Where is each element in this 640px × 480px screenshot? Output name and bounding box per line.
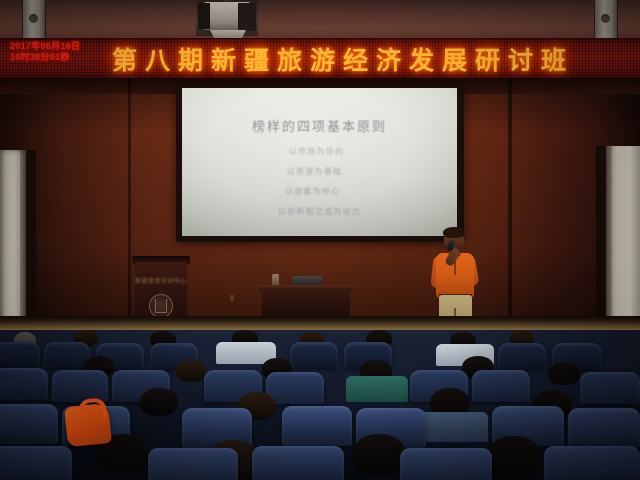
projector-lens bbox=[238, 3, 256, 31]
audience-seat[interactable] bbox=[472, 370, 530, 402]
slide-bullet-list: 以市场为导向 以资源为基础 以游客为中心 以创新和交流为动力 bbox=[182, 146, 457, 226]
audience-seat[interactable] bbox=[544, 446, 640, 480]
audience-shirt bbox=[346, 376, 408, 402]
audience-seat[interactable] bbox=[0, 342, 40, 368]
audience-seat[interactable] bbox=[148, 448, 238, 480]
audience-head bbox=[548, 362, 580, 385]
audience-head bbox=[176, 360, 206, 382]
audience-seat[interactable] bbox=[266, 372, 324, 404]
timestamp-date: 2017年06月16日 bbox=[10, 41, 80, 52]
audience-head bbox=[352, 434, 406, 476]
orange-handbag bbox=[64, 403, 112, 447]
side-wall-right-shadow bbox=[596, 146, 612, 332]
audience-seat[interactable] bbox=[0, 404, 58, 444]
ceiling bbox=[0, 0, 640, 40]
audience-seat[interactable] bbox=[498, 343, 546, 369]
projector-side-left bbox=[198, 3, 210, 29]
audience-seat[interactable] bbox=[400, 448, 492, 480]
ceiling-projector-icon bbox=[196, 0, 258, 36]
institution-emblem-icon bbox=[149, 294, 173, 318]
camera-timestamp-overlay: 2017年06月16日 10时38分01秒 bbox=[10, 41, 80, 63]
slide-bullet: 以游客为中心 bbox=[182, 186, 457, 197]
led-banner: 第八期新疆旅游经济发展研讨班 bbox=[0, 38, 640, 80]
audience-seat[interactable] bbox=[44, 342, 90, 368]
cctv-photo-frame: 第八期新疆旅游经济发展研讨班 2017年06月16日 10时38分01秒 榜样的… bbox=[0, 0, 640, 480]
led-banner-text: 第八期新疆旅游经济发展研讨班 bbox=[108, 41, 578, 77]
projection-screen: 榜样的四项基本原则 以市场为导向 以资源为基础 以游客为中心 以创新和交流为动力 bbox=[182, 88, 457, 236]
audience-seat[interactable] bbox=[52, 370, 108, 402]
slide-bullet: 以市场为导向 bbox=[182, 146, 457, 157]
audience-seat[interactable] bbox=[252, 446, 344, 480]
slide-bullet: 以资源为基础 bbox=[182, 166, 457, 177]
audience-seat[interactable] bbox=[568, 408, 640, 448]
side-wall-left-shadow bbox=[20, 150, 36, 328]
wall-panel-seam-right bbox=[508, 78, 512, 323]
ceiling-speaker-right-icon bbox=[594, 0, 618, 40]
wall-panel-seam-left bbox=[128, 78, 131, 323]
audience-seat[interactable] bbox=[282, 406, 352, 446]
lectern-text: 新疆旅游培训中心 bbox=[135, 276, 187, 285]
timestamp-time: 10时38分01秒 bbox=[10, 52, 80, 63]
audience-head bbox=[486, 436, 542, 478]
microphone-stand-icon bbox=[230, 295, 234, 301]
audience-seat[interactable] bbox=[290, 342, 338, 368]
audience-head bbox=[140, 388, 178, 416]
audience-seat[interactable] bbox=[0, 446, 72, 480]
audience-seat[interactable] bbox=[0, 368, 48, 400]
slide-title: 榜样的四项基本原则 bbox=[182, 116, 457, 135]
ceiling-speaker-left-icon bbox=[22, 0, 46, 40]
audience-seat[interactable] bbox=[580, 372, 640, 404]
presenter-hair bbox=[443, 227, 465, 238]
slide-bullet: 以创新和交流为动力 bbox=[182, 206, 457, 217]
